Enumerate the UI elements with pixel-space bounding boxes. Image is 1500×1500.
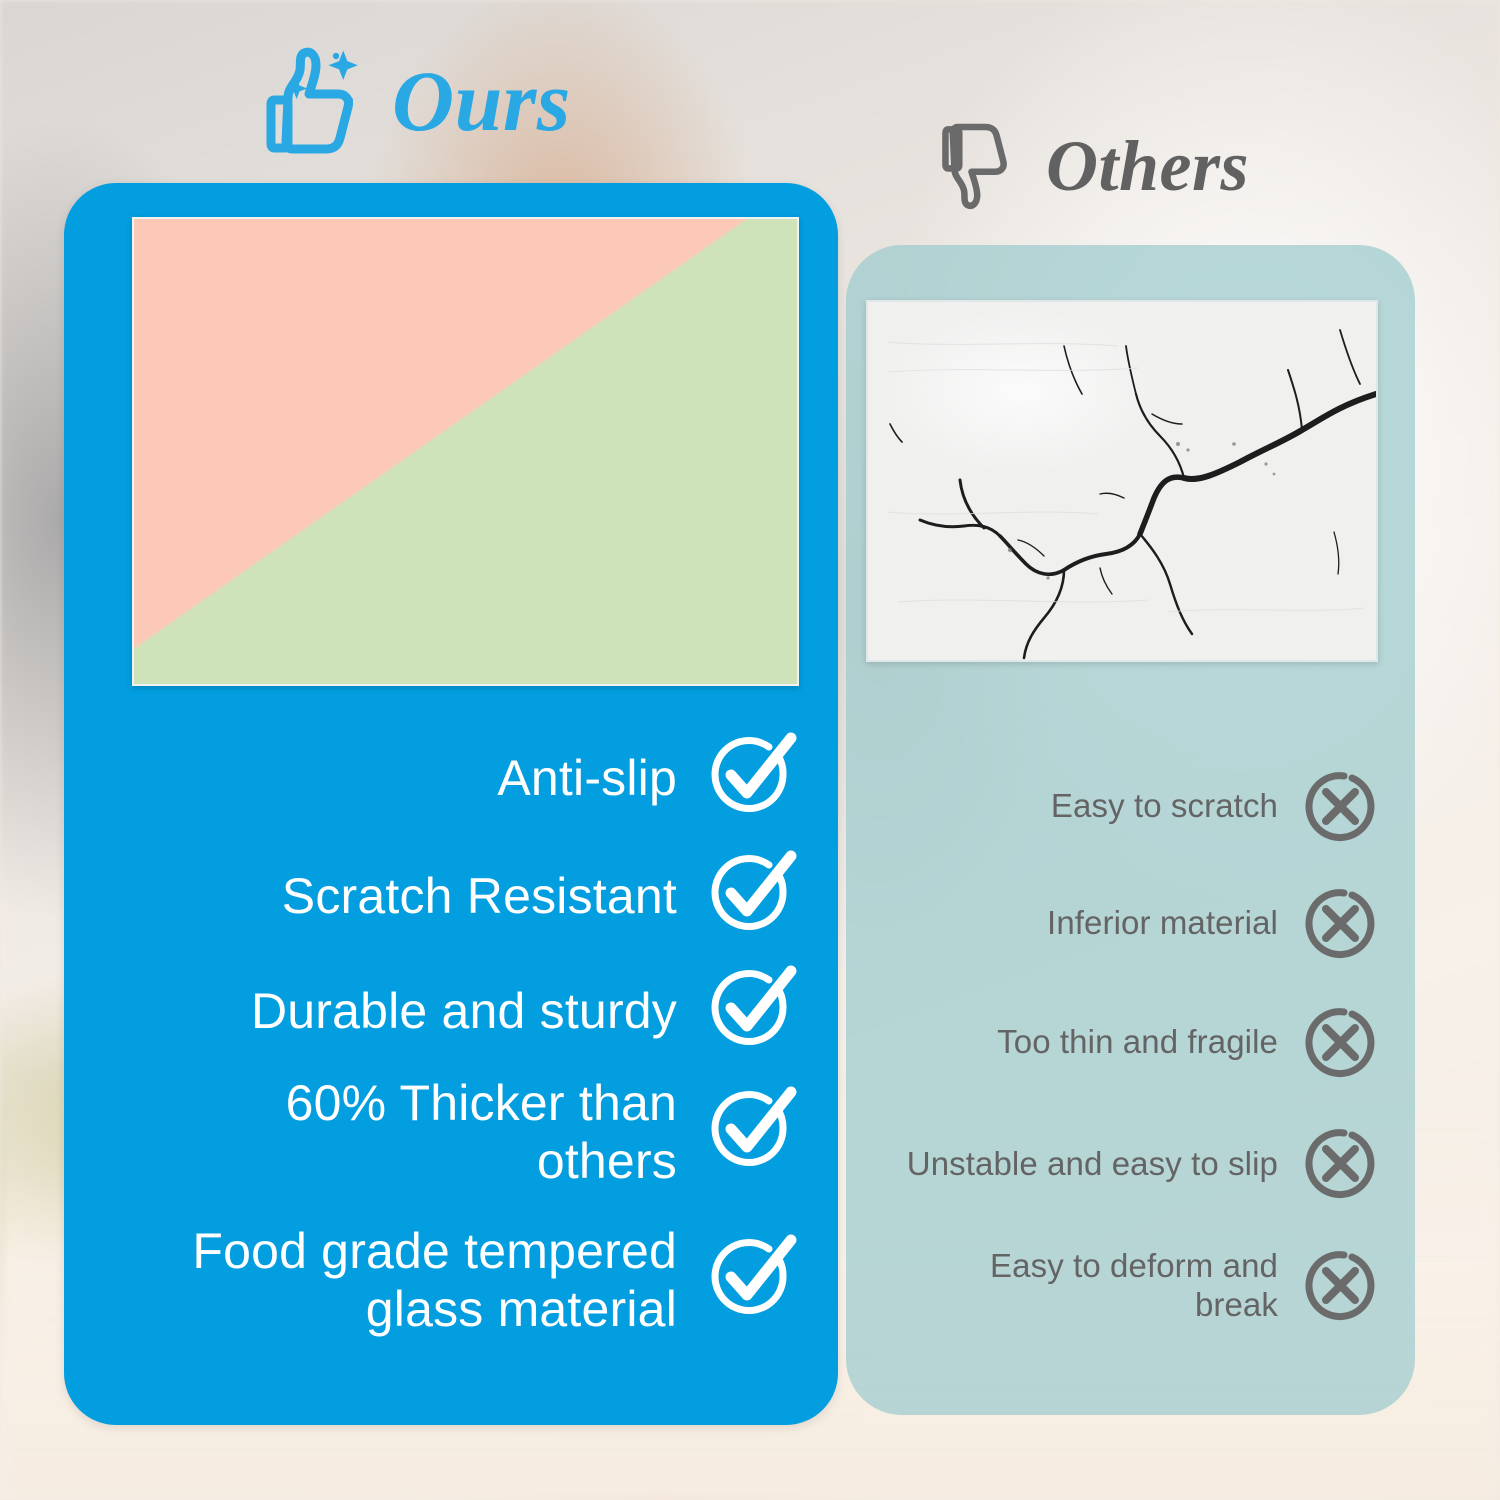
others-feature-item: Easy to deform and break [900, 1225, 1378, 1346]
ours-feature-label: 60% Thicker than others [132, 1074, 677, 1190]
ours-feature-item: 60% Thicker than others [132, 1068, 795, 1195]
ours-feature-label: Anti-slip [497, 749, 677, 807]
thumbs-down-icon [930, 118, 1026, 214]
others-feature-label: Easy to scratch [1051, 787, 1278, 826]
thumbs-up-icon [252, 42, 370, 160]
others-header: Others [930, 118, 1249, 214]
check-circle-icon [707, 1086, 795, 1178]
ours-feature-item: Food grade tempered glass material [132, 1195, 795, 1365]
others-feature-item: Too thin and fragile [900, 982, 1378, 1103]
ours-header: Ours [252, 42, 571, 160]
x-circle-icon [1302, 1126, 1378, 1202]
others-feature-label: Inferior material [1047, 904, 1278, 943]
check-circle-icon [707, 1234, 795, 1326]
others-feature-label: Unstable and easy to slip [907, 1145, 1278, 1184]
others-feature-label: Too thin and fragile [997, 1023, 1278, 1062]
others-feature-item: Easy to scratch [900, 748, 1378, 865]
ours-feature-item: Anti-slip [132, 718, 795, 838]
others-feature-item: Inferior material [900, 865, 1378, 982]
others-title: Others [1046, 130, 1249, 202]
others-feature-item: Unstable and easy to slip [900, 1103, 1378, 1225]
ours-title: Ours [392, 58, 571, 144]
others-feature-list: Easy to scratch Inferior material Too [900, 748, 1378, 1346]
ours-feature-list: Anti-slip Scratch Resistant Durable and … [132, 718, 795, 1365]
x-circle-icon [1302, 1005, 1378, 1081]
ours-feature-label: Durable and sturdy [251, 982, 677, 1040]
others-feature-label: Easy to deform and break [900, 1247, 1278, 1325]
product-image-backdrop [134, 219, 797, 684]
others-product-image [866, 300, 1378, 662]
x-circle-icon [1302, 1248, 1378, 1324]
comparison-infographic: Ours Others [0, 0, 1500, 1500]
ours-product-image: JUICE [132, 217, 799, 686]
check-circle-icon [707, 965, 795, 1057]
ours-feature-item: Scratch Resistant [132, 838, 795, 953]
ours-feature-item: Durable and sturdy [132, 953, 795, 1068]
check-circle-icon [707, 850, 795, 942]
x-circle-icon [1302, 886, 1378, 962]
x-circle-icon [1302, 769, 1378, 845]
check-circle-icon [707, 732, 795, 824]
ours-feature-label: Food grade tempered glass material [192, 1222, 677, 1338]
ours-feature-label: Scratch Resistant [282, 867, 677, 925]
cracked-surface-illustration [868, 302, 1376, 660]
